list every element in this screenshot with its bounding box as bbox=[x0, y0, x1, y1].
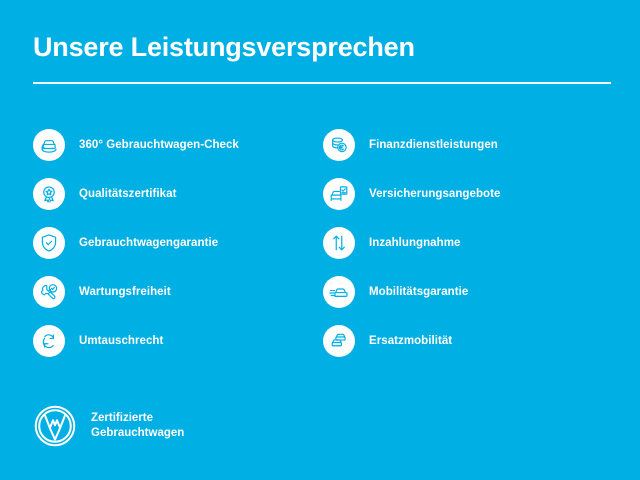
feature-label: Versicherungsangebote bbox=[369, 187, 500, 201]
brand-line-2: Gebrauchtwagen bbox=[91, 426, 184, 441]
feature-item: Mobilitätsgarantie bbox=[323, 267, 613, 316]
up-down-arrows-icon bbox=[323, 227, 355, 259]
promise-poster: Unsere Leistungsversprechen 360° Gebrauc bbox=[0, 0, 640, 480]
feature-item: Ersatzmobilität bbox=[323, 316, 613, 365]
car-360-check-icon bbox=[33, 129, 65, 161]
feature-item: Wartungsfreiheit bbox=[33, 267, 323, 316]
feature-item: 360° Gebrauchtwagen-Check bbox=[33, 120, 323, 169]
features-right-column: Finanzdienstleistungen Versicheru bbox=[323, 120, 613, 365]
volkswagen-logo bbox=[33, 404, 77, 448]
coins-euro-icon bbox=[323, 129, 355, 161]
feature-label: Mobilitätsgarantie bbox=[369, 285, 468, 299]
feature-item: Gebrauchtwagengarantie bbox=[33, 218, 323, 267]
header-divider bbox=[33, 82, 611, 84]
feature-label: Umtauschrecht bbox=[79, 334, 163, 348]
feature-label: Qualitätszertifikat bbox=[79, 187, 176, 201]
award-rosette-icon bbox=[33, 178, 65, 210]
page-title: Unsere Leistungsversprechen bbox=[33, 30, 607, 64]
brand-lockup: Zertifizierte Gebrauchtwagen bbox=[33, 404, 184, 448]
feature-item: Versicherungsangebote bbox=[323, 169, 613, 218]
brand-text: Zertifizierte Gebrauchtwagen bbox=[91, 411, 184, 441]
wrench-check-icon bbox=[33, 276, 65, 308]
exchange-arrows-icon bbox=[33, 325, 65, 357]
feature-item: Finanzdienstleistungen bbox=[323, 120, 613, 169]
feature-label: Wartungsfreiheit bbox=[79, 285, 171, 299]
two-cars-icon bbox=[323, 325, 355, 357]
car-motion-icon bbox=[323, 276, 355, 308]
feature-label: Ersatzmobilität bbox=[369, 334, 452, 348]
features-grid: 360° Gebrauchtwagen-Check Qualitätszerti… bbox=[33, 120, 613, 365]
feature-item: Qualitätszertifikat bbox=[33, 169, 323, 218]
shield-check-icon bbox=[33, 227, 65, 259]
feature-item: Umtauschrecht bbox=[33, 316, 323, 365]
feature-label: 360° Gebrauchtwagen-Check bbox=[79, 138, 239, 152]
feature-item: Inzahlungnahme bbox=[323, 218, 613, 267]
car-document-icon bbox=[323, 178, 355, 210]
feature-label: Finanzdienstleistungen bbox=[369, 138, 498, 152]
feature-label: Inzahlungnahme bbox=[369, 236, 460, 250]
feature-label: Gebrauchtwagengarantie bbox=[79, 236, 218, 250]
header: Unsere Leistungsversprechen bbox=[33, 30, 607, 84]
brand-line-1: Zertifizierte bbox=[91, 411, 184, 426]
features-left-column: 360° Gebrauchtwagen-Check Qualitätszerti… bbox=[33, 120, 323, 365]
